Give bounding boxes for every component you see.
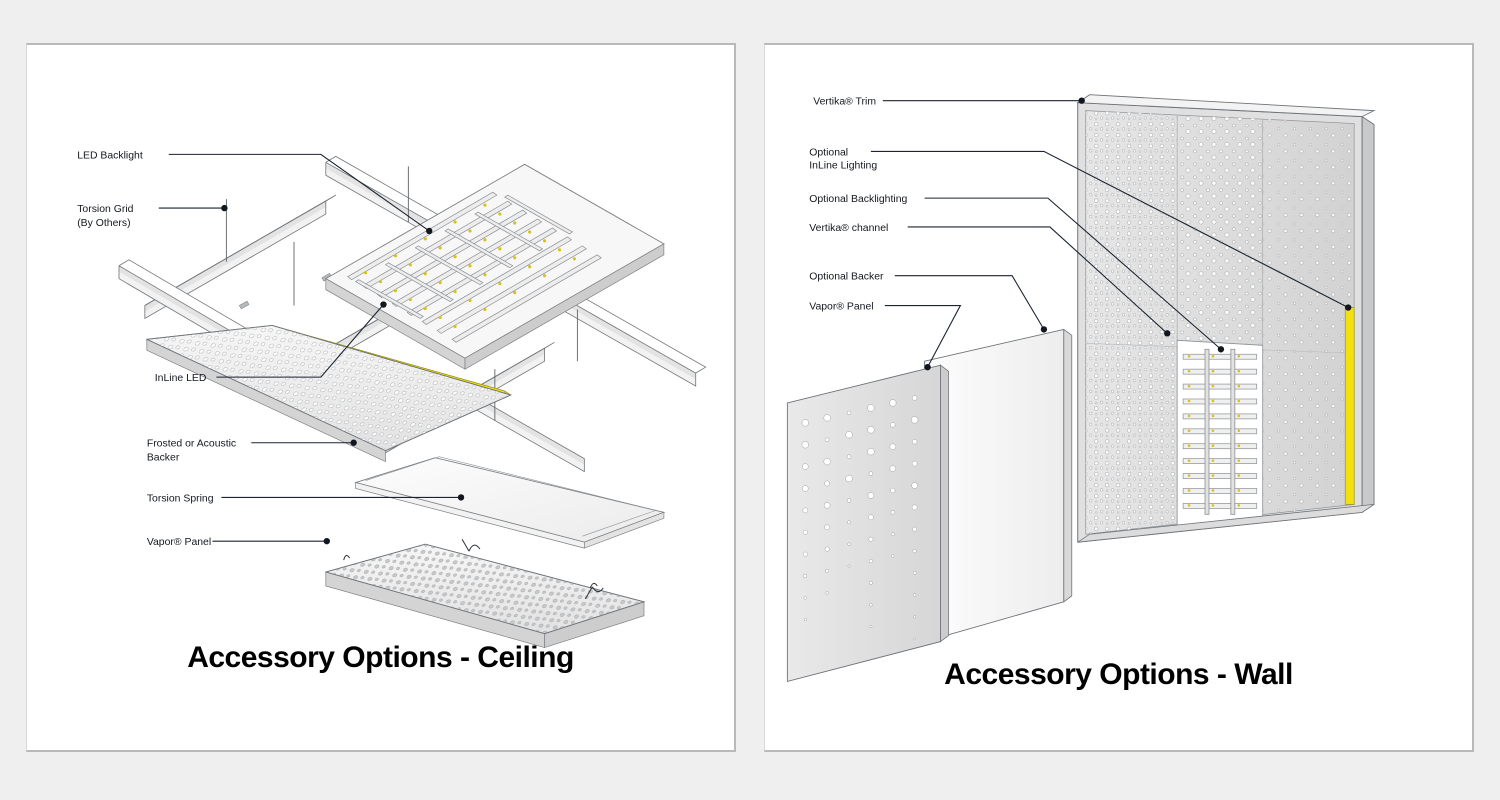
callout-dot <box>426 228 432 234</box>
frosted-acoustic-backer <box>356 457 664 548</box>
optional-backlighting-strips <box>1183 349 1257 514</box>
page-root: LED Backlight Torsion Grid (By Others) I… <box>0 0 1500 800</box>
callout-dot <box>1345 304 1351 310</box>
callout-dot <box>380 301 386 307</box>
callout-dot <box>924 364 930 370</box>
svg-text:Torsion Grid: Torsion Grid <box>77 204 133 215</box>
svg-text:InLine Lighting: InLine Lighting <box>809 160 877 171</box>
svg-text:LED Backlight: LED Backlight <box>77 150 143 161</box>
svg-text:Torsion Spring: Torsion Spring <box>147 493 214 504</box>
svg-text:InLine LED: InLine LED <box>155 373 207 384</box>
callout-frosted-backer: Frosted or Acoustic Backer <box>147 439 357 464</box>
wall-title: Accessory Options - Wall <box>765 658 1472 692</box>
callout-dot <box>1164 330 1170 336</box>
callout-dot <box>1218 346 1224 352</box>
svg-text:Optional Backlighting: Optional Backlighting <box>809 194 907 205</box>
svg-text:Optional: Optional <box>809 147 848 158</box>
callout-torsion-grid: Torsion Grid (By Others) <box>77 204 227 229</box>
vapor-panel-exploded <box>316 537 664 647</box>
svg-text:Vertika® Trim: Vertika® Trim <box>813 97 876 108</box>
svg-text:Vapor® Panel: Vapor® Panel <box>809 301 873 312</box>
vertika-wall-assembly <box>1078 95 1374 542</box>
card-ceiling: LED Backlight Torsion Grid (By Others) I… <box>26 43 736 752</box>
callout-dot <box>1041 326 1047 332</box>
callout-dot <box>324 538 330 544</box>
svg-text:Vapor® Panel: Vapor® Panel <box>147 537 211 548</box>
optional-inline-lighting-strip <box>1345 308 1354 505</box>
wall-cutaway <box>1177 340 1263 529</box>
vertika-trim-return <box>1362 117 1374 513</box>
callout-vapor-panel: Vapor® Panel <box>147 537 330 548</box>
callout-dot <box>458 494 464 500</box>
callout-dot <box>1079 98 1085 104</box>
card-wall: Vertika® Trim Optional InLine Lighting O… <box>764 43 1474 752</box>
svg-text:Vertika® channel: Vertika® channel <box>809 223 888 234</box>
svg-text:Backer: Backer <box>147 453 180 464</box>
svg-text:(By Others): (By Others) <box>77 218 130 229</box>
svg-text:Optional Backer: Optional Backer <box>809 272 884 283</box>
svg-text:Frosted or Acoustic: Frosted or Acoustic <box>147 439 236 450</box>
ceiling-title: Accessory Options - Ceiling <box>27 641 734 675</box>
vapor-panel-front <box>787 365 948 681</box>
callout-dot <box>350 440 356 446</box>
callout-vertika-trim: Vertika® Trim <box>813 97 1085 108</box>
callout-dot <box>221 205 227 211</box>
wall-diagram: Vertika® Trim Optional InLine Lighting O… <box>765 45 1472 750</box>
